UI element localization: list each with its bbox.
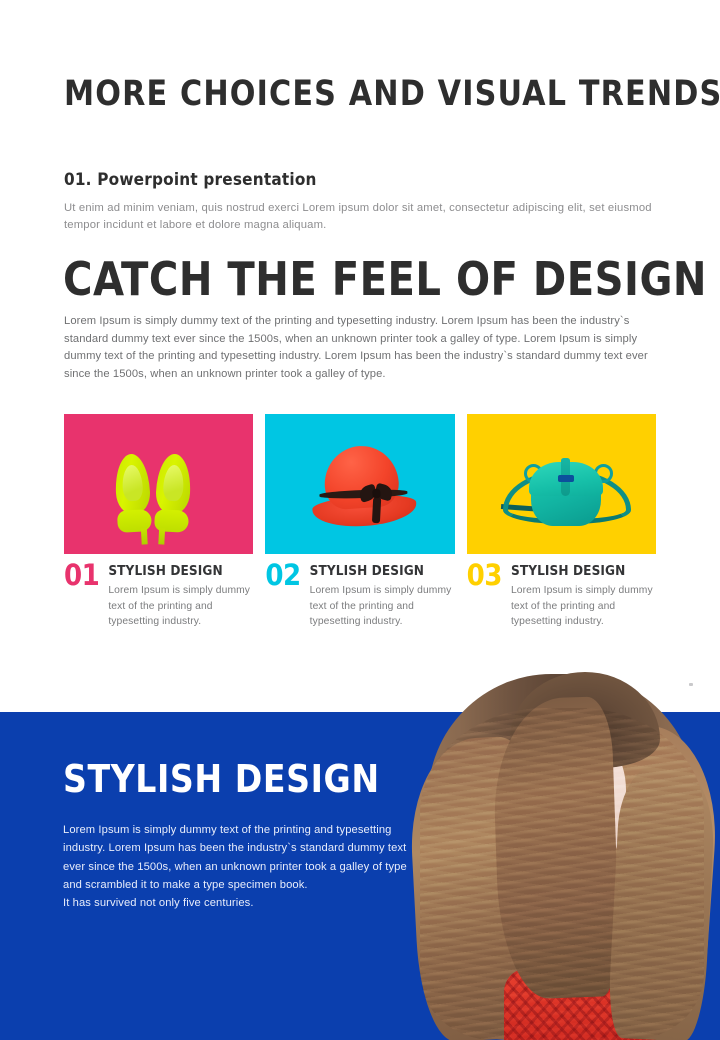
product-card-hat[interactable]	[265, 414, 454, 554]
feature-paragraph: Lorem Ipsum is simply dummy text of the …	[64, 313, 664, 383]
caption-item: 03 STYLISH DESIGN Lorem Ipsum is simply …	[467, 562, 656, 630]
slide-page: MORE CHOICES AND VISUAL TRENDS 01. Power…	[0, 0, 720, 1040]
section-one-paragraph: Ut enim ad minim veniam, quis nostrud ex…	[64, 200, 672, 234]
product-card-row	[64, 414, 656, 554]
caption-number: 01	[64, 562, 99, 630]
high-heel-shoe-icon	[154, 453, 192, 533]
caption-row: 01 STYLISH DESIGN Lorem Ipsum is simply …	[64, 562, 656, 630]
product-card-bag[interactable]	[467, 414, 656, 554]
product-card-shoes[interactable]	[64, 414, 253, 554]
cloche-hat-icon	[309, 442, 419, 533]
footer-paragraph: Lorem Ipsum is simply dummy text of the …	[63, 821, 423, 912]
caption-title: STYLISH DESIGN	[310, 564, 455, 579]
feature-heading: CATCH THE FEEL OF DESIGN	[63, 252, 707, 306]
caption-text: Lorem Ipsum is simply dummy text of the …	[511, 583, 656, 630]
section-one-heading: 01. Powerpoint presentation	[64, 170, 317, 190]
portrait-photo	[400, 668, 720, 1040]
caption-text: Lorem Ipsum is simply dummy text of the …	[310, 583, 455, 630]
caption-number: 03	[467, 562, 502, 630]
dust-speck	[689, 683, 693, 686]
caption-title: STYLISH DESIGN	[511, 564, 656, 579]
handbag-icon	[501, 448, 625, 526]
page-title: MORE CHOICES AND VISUAL TRENDS	[64, 74, 720, 114]
caption-number: 02	[265, 562, 300, 630]
caption-title: STYLISH DESIGN	[108, 564, 253, 579]
high-heel-shoe-icon	[114, 453, 152, 533]
caption-item: 02 STYLISH DESIGN Lorem Ipsum is simply …	[265, 562, 454, 630]
caption-text: Lorem Ipsum is simply dummy text of the …	[108, 583, 253, 630]
caption-item: 01 STYLISH DESIGN Lorem Ipsum is simply …	[64, 562, 253, 630]
footer-heading: STYLISH DESIGN	[63, 757, 380, 801]
